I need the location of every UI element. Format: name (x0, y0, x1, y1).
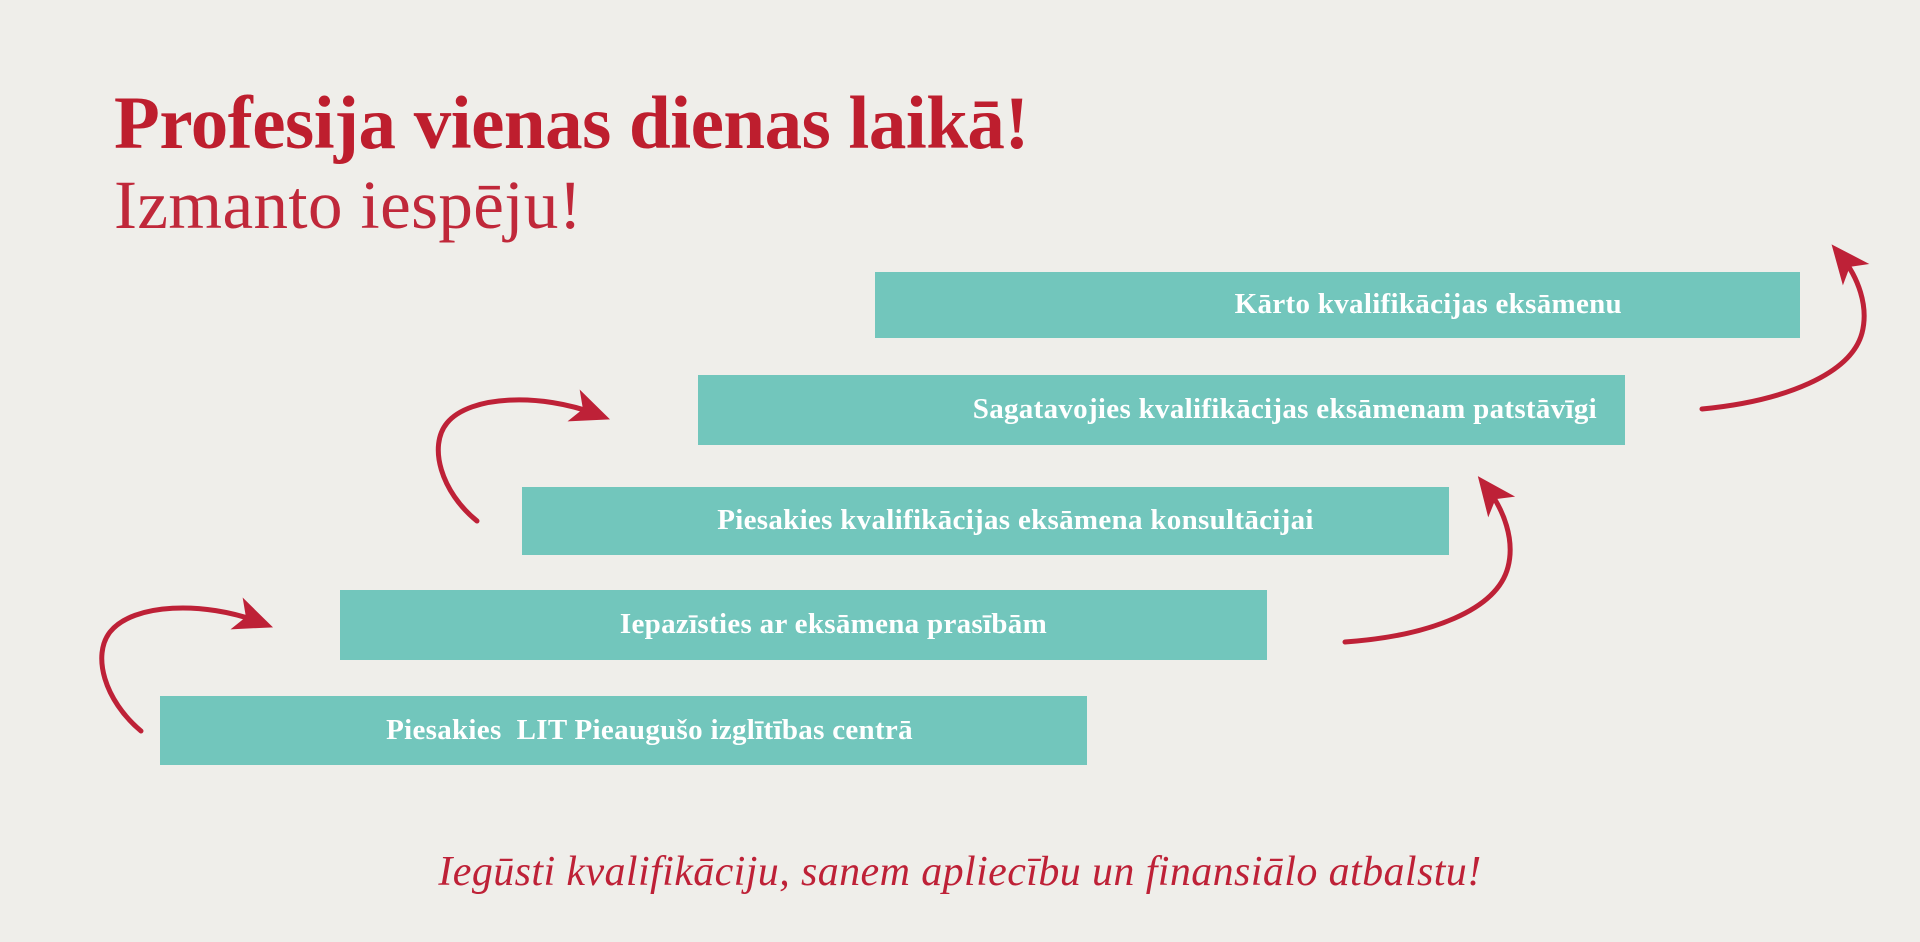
headline-secondary: Izmanto iespēju! (114, 166, 1414, 244)
step-bar-5[interactable]: Kārto kvalifikācijas eksāmenu (875, 272, 1800, 338)
step-bar-1-label: Piesakies LIT Pieaugušo izglītības centr… (160, 715, 1087, 747)
step-bar-3-label: Piesakies kvalifikācijas eksāmena konsul… (522, 505, 1449, 537)
step-bar-2-label: Iepazīsties ar eksāmena prasībām (340, 609, 1267, 641)
headline-group: Profesija vienas dienas laikā! Izmanto i… (114, 82, 1414, 244)
headline-primary: Profesija vienas dienas laikā! (114, 82, 1414, 166)
tagline: Iegūsti kvalifikāciju, sanem apliecību u… (0, 848, 1920, 896)
step-bar-4-label: Sagatavojies kvalifikācijas eksāmenam pa… (698, 394, 1625, 426)
step-bar-2[interactable]: Iepazīsties ar eksāmena prasībām (340, 590, 1267, 660)
slide-canvas: Profesija vienas dienas laikā! Izmanto i… (0, 0, 1920, 942)
step-bar-4[interactable]: Sagatavojies kvalifikācijas eksāmenam pa… (698, 375, 1625, 445)
step-bar-5-label: Kārto kvalifikācijas eksāmenu (875, 289, 1800, 321)
step-bar-3[interactable]: Piesakies kvalifikācijas eksāmena konsul… (522, 487, 1449, 555)
step-bar-1[interactable]: Piesakies LIT Pieaugušo izglītības centr… (160, 696, 1087, 765)
